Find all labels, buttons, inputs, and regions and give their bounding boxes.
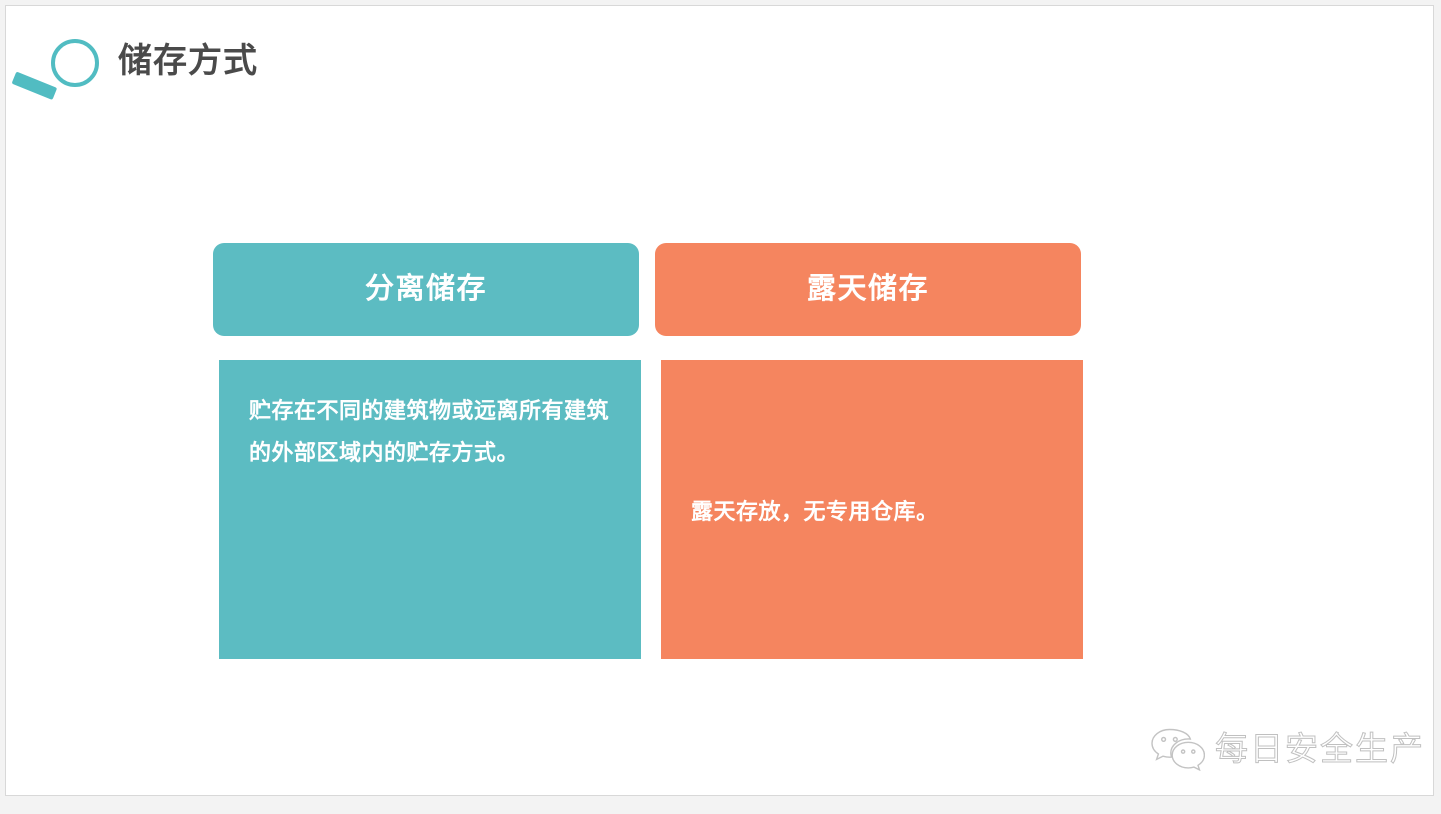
column-header-card[interactable]: 分离储存 <box>213 243 639 336</box>
magnifier-icon <box>6 21 116 101</box>
watermark: 每日安全生产 <box>1149 725 1425 771</box>
column-body-card: 露天存放，无专用仓库。 <box>661 360 1083 659</box>
wechat-icon <box>1149 725 1205 771</box>
magnifier-ring-icon <box>51 39 99 87</box>
watermark-text: 每日安全生产 <box>1215 732 1425 765</box>
slide-canvas: 储存方式 分离储存 贮存在不同的建筑物或远离所有建筑的外部区域内的贮存方式。 露… <box>0 0 1441 814</box>
column-separated-storage: 分离储存 贮存在不同的建筑物或远离所有建筑的外部区域内的贮存方式。 <box>213 238 639 668</box>
slide-header: 储存方式 <box>6 16 258 106</box>
column-open-air-storage: 露天储存 露天存放，无专用仓库。 <box>655 238 1081 668</box>
column-body-text: 露天存放，无专用仓库。 <box>691 491 1053 533</box>
column-body-text: 贮存在不同的建筑物或远离所有建筑的外部区域内的贮存方式。 <box>249 390 611 474</box>
column-header-card[interactable]: 露天储存 <box>655 243 1081 336</box>
comparison-columns: 分离储存 贮存在不同的建筑物或远离所有建筑的外部区域内的贮存方式。 露天储存 露… <box>213 238 1093 668</box>
column-header-label: 露天储存 <box>807 275 929 304</box>
page-title: 储存方式 <box>118 44 258 78</box>
slide: 储存方式 分离储存 贮存在不同的建筑物或远离所有建筑的外部区域内的贮存方式。 露… <box>5 5 1434 796</box>
column-header-label: 分离储存 <box>365 275 487 304</box>
column-body-card: 贮存在不同的建筑物或远离所有建筑的外部区域内的贮存方式。 <box>219 360 641 659</box>
magnifier-handle-icon <box>12 71 58 100</box>
